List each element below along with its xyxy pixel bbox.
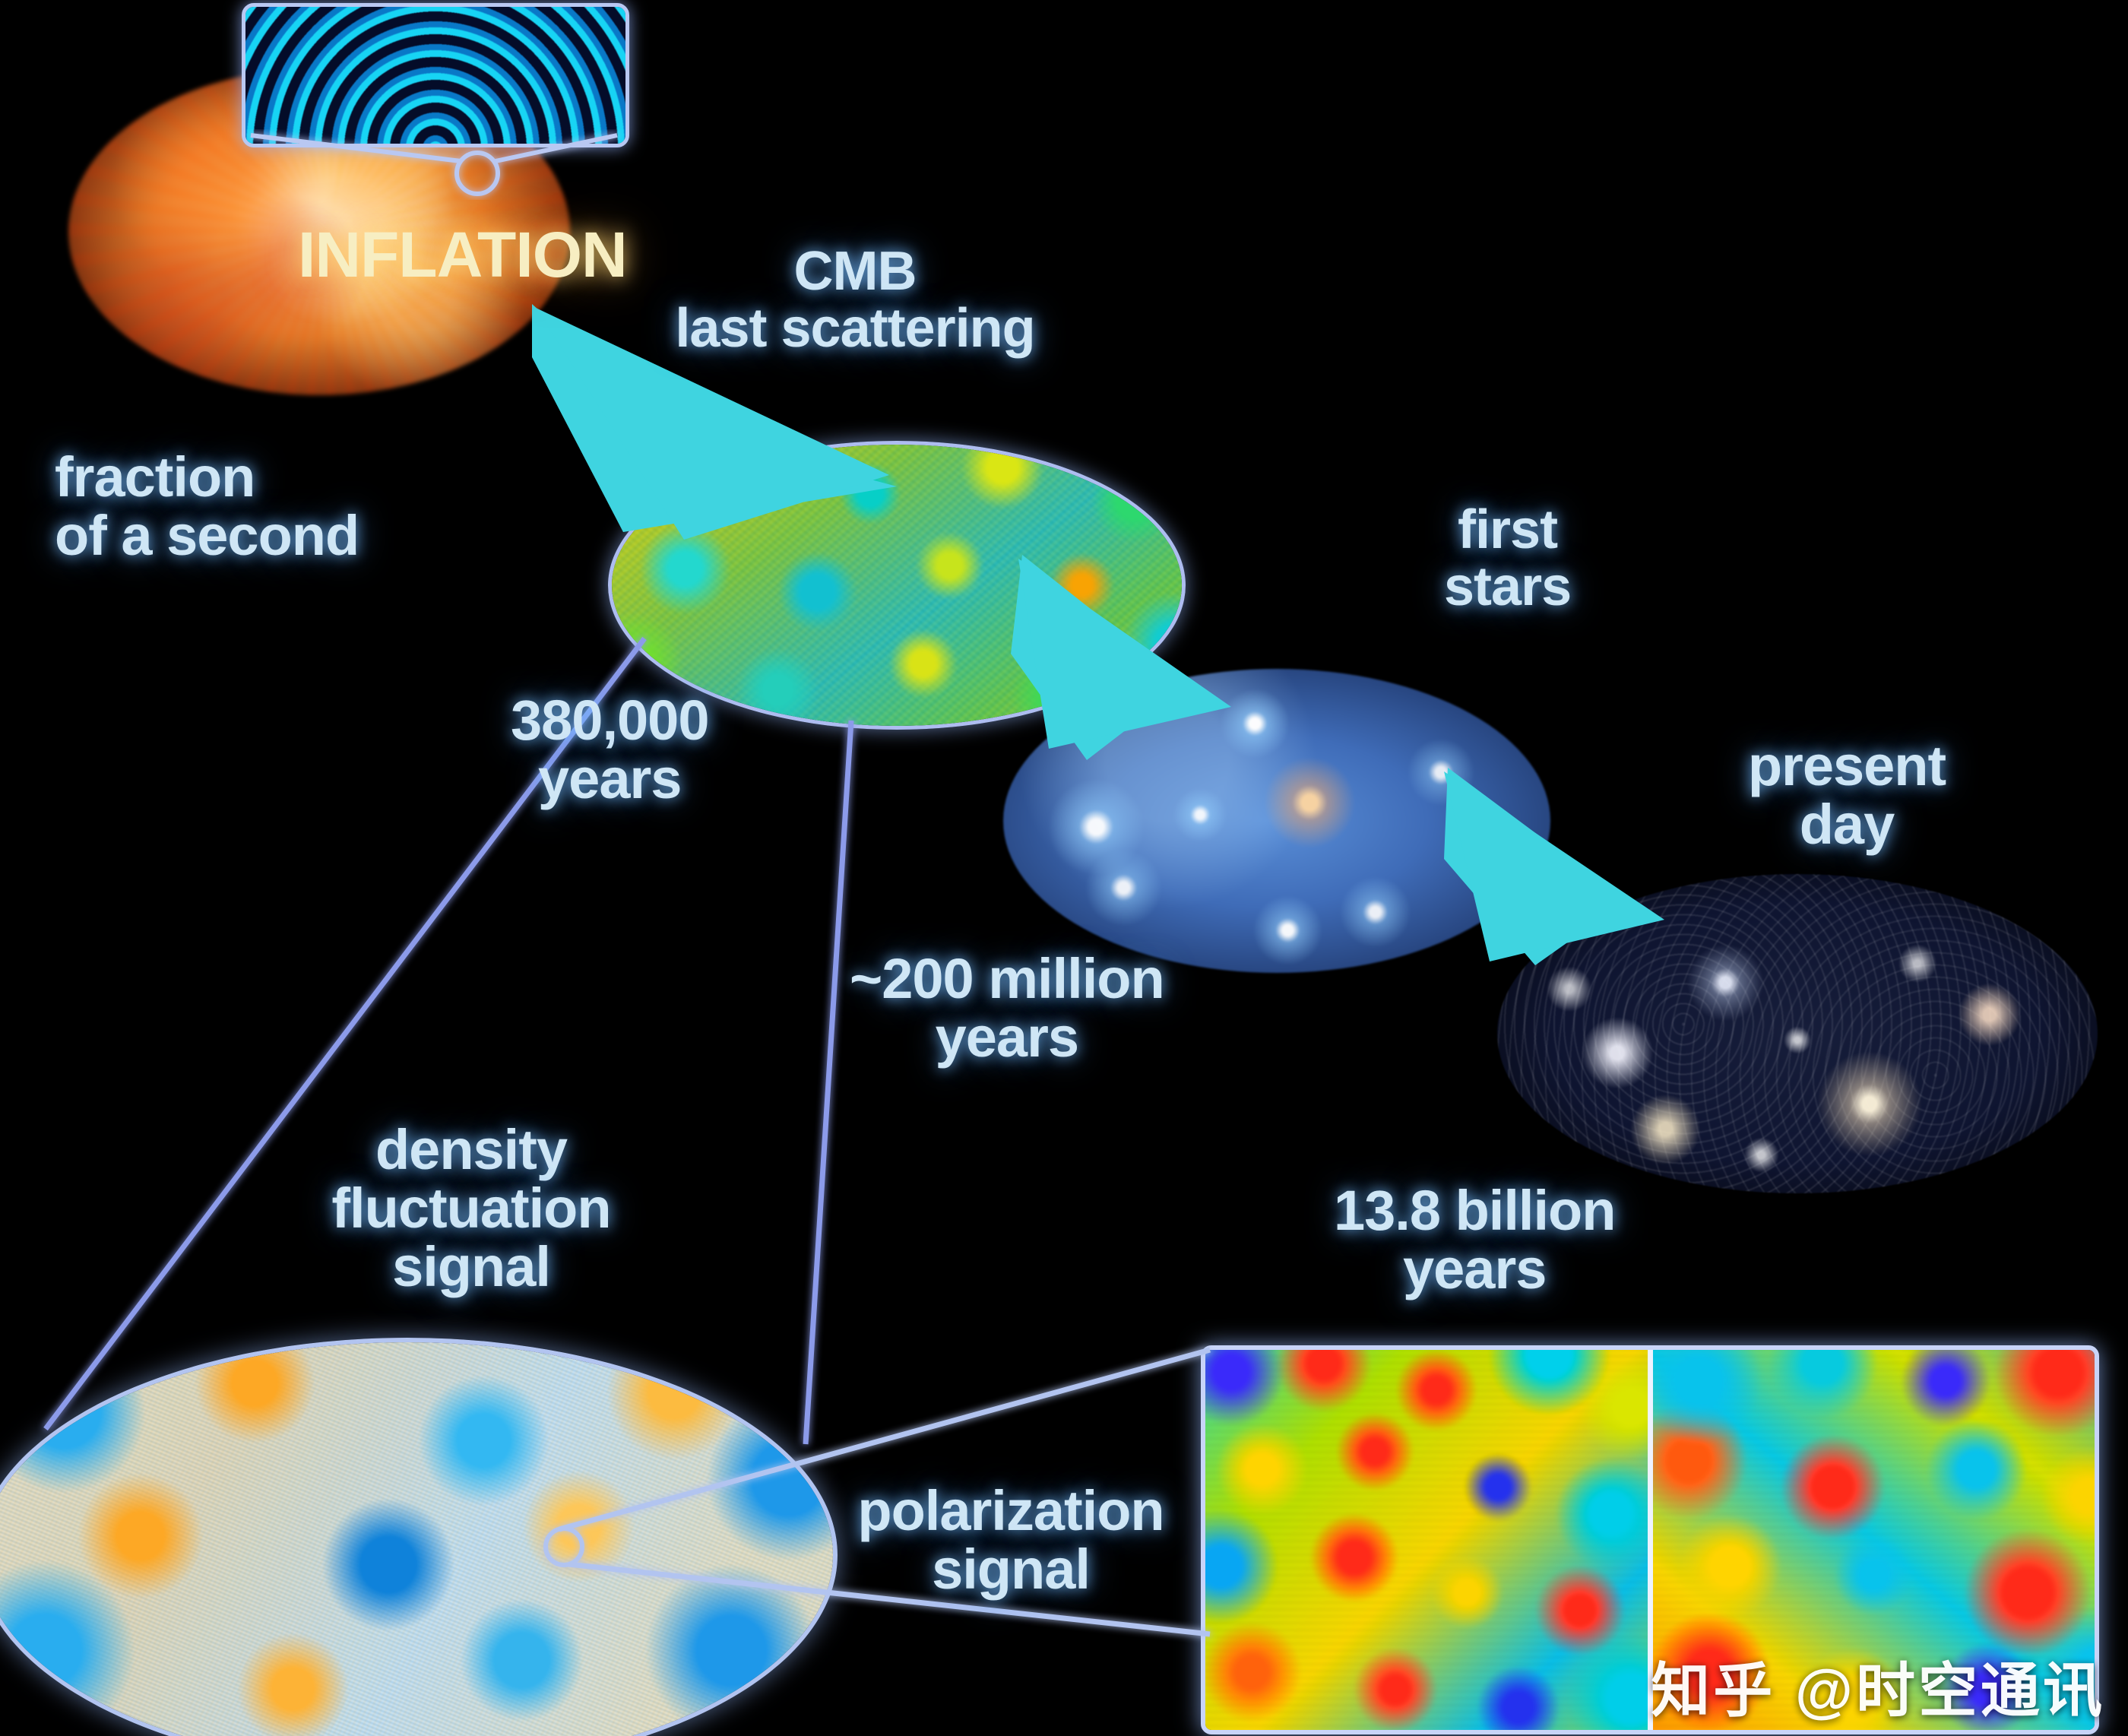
label-fraction-of-a-second: fraction of a second [55, 448, 359, 565]
polarization-texture-left [1205, 1350, 1648, 1730]
label-cmb-last-scattering: CMB last scattering [675, 243, 1034, 357]
label-13-8-billion-years: 13.8 billion years [1334, 1182, 1615, 1299]
label-380000-years: 380,000 years [511, 692, 709, 809]
cmb-last-scattering-oval[interactable] [608, 441, 1186, 730]
label-first-stars: first stars [1444, 502, 1571, 616]
label-polarization-signal: polarization signal [857, 1482, 1164, 1599]
gravitational-wave-rings-icon [242, 3, 629, 147]
label-200-million-years: ~200 million years [850, 950, 1164, 1067]
present-day-oval[interactable] [1497, 874, 2098, 1193]
planck-cmb-texture [0, 1338, 838, 1736]
label-inflation: INFLATION [298, 222, 627, 288]
zhihu-watermark: 知乎 @时空通讯 [1651, 1643, 2105, 1728]
label-present-day: present day [1748, 737, 1946, 854]
label-density-fluctuation-signal: density fluctuation signal [331, 1121, 610, 1297]
polarization-map-left [1205, 1350, 1648, 1730]
cmb-temperature-texture [608, 441, 1186, 730]
gravitational-wave-inset-panel[interactable] [242, 3, 629, 147]
first-stars-oval[interactable] [1003, 669, 1550, 973]
cosmology-timeline-diagram: INFLATION fraction of a second CMB last … [0, 0, 2128, 1736]
density-fluctuation-oval[interactable] [0, 1338, 838, 1736]
cmb-to-density-leader-lines [46, 638, 851, 1444]
